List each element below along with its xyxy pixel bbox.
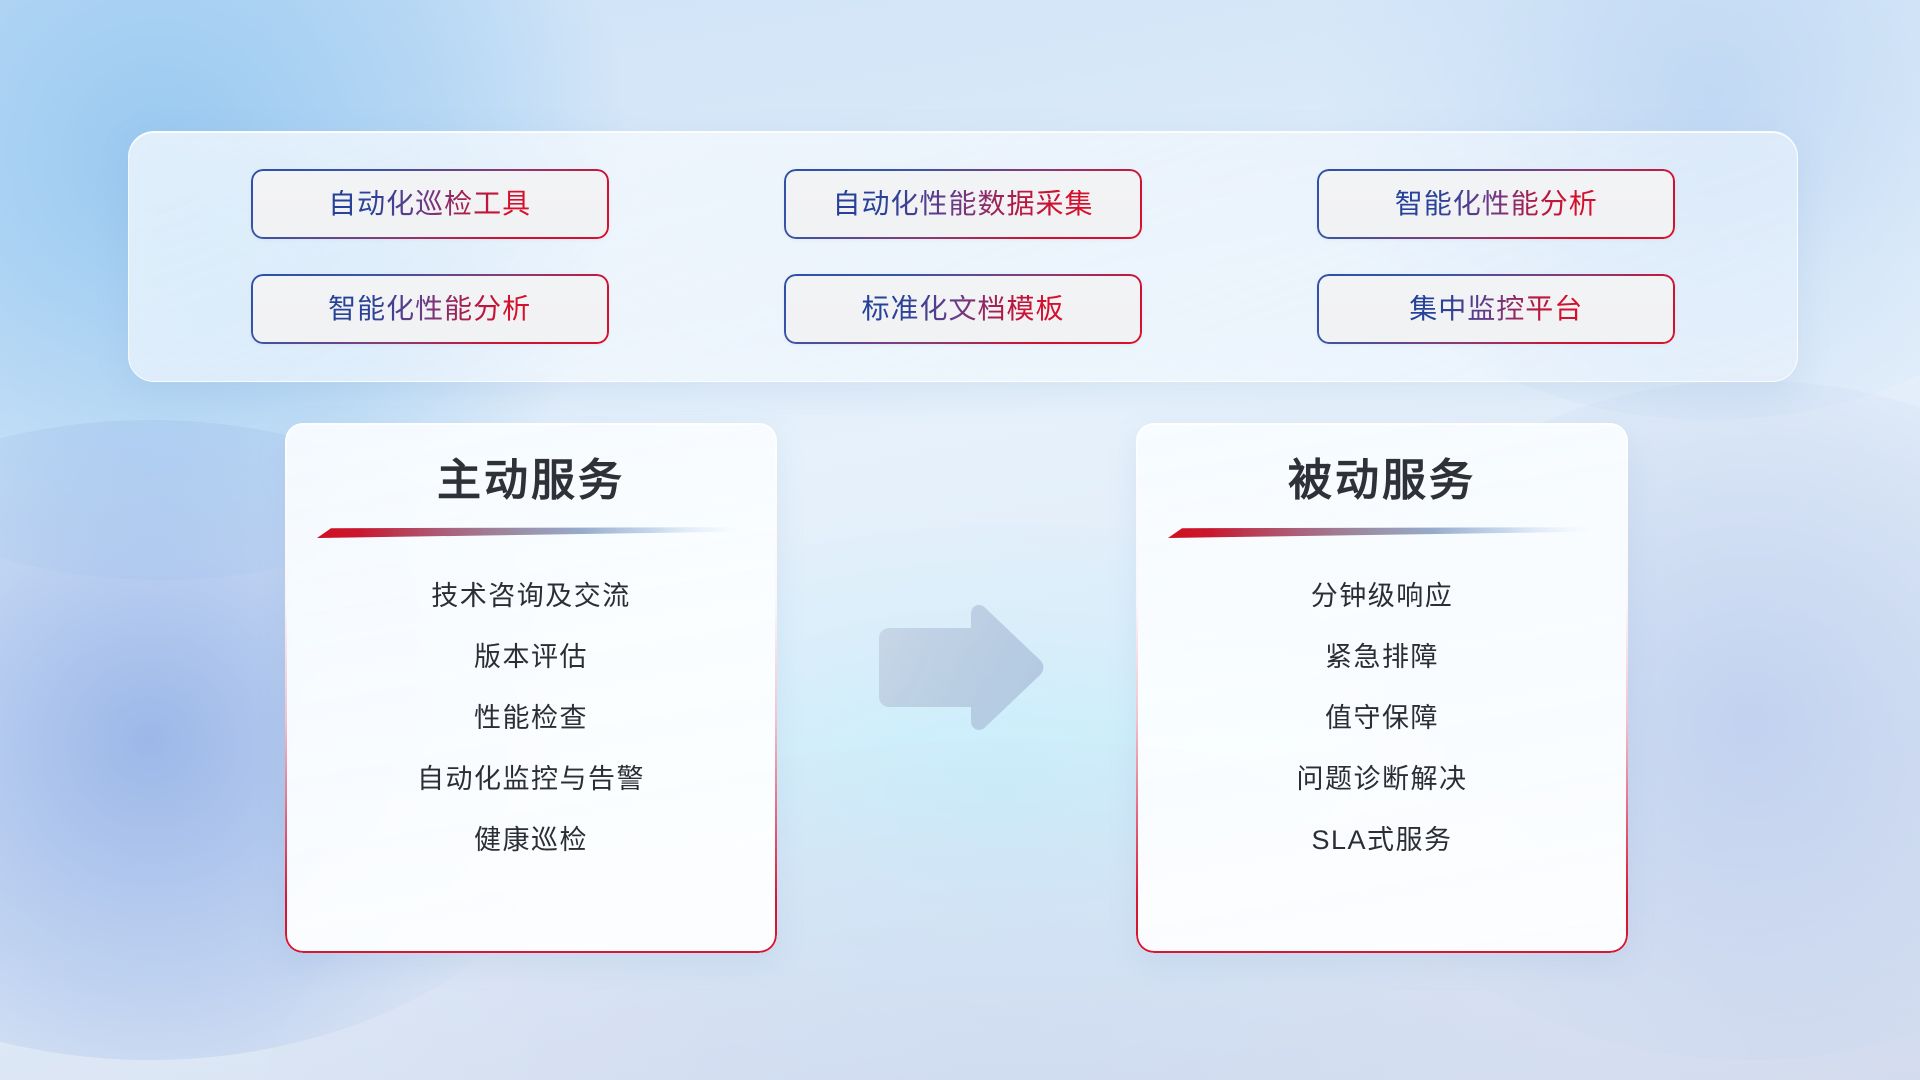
capability-tag-label: 标准化文档模板	[861, 295, 1064, 323]
title-divider	[317, 527, 745, 538]
card-title: 被动服务	[1288, 457, 1476, 505]
capability-tag[interactable]: 智能化性能分析	[251, 274, 609, 344]
list-item: 健康巡检	[474, 810, 588, 871]
list-item: 分钟级响应	[1311, 566, 1454, 627]
capability-tag[interactable]: 自动化巡检工具	[251, 169, 609, 239]
capability-tag-label: 智能化性能分析	[328, 295, 531, 323]
list-item: 版本评估	[474, 627, 588, 688]
capability-tag-label: 智能化性能分析	[1395, 190, 1598, 218]
list-item: 值守保障	[1325, 688, 1439, 749]
capability-tag[interactable]: 自动化性能数据采集	[784, 169, 1142, 239]
list-item: 紧急排障	[1325, 627, 1439, 688]
poster-canvas: 自动化巡检工具 自动化性能数据采集 智能化性能分析 智能化性能分析 标准化文档模…	[0, 0, 1920, 1080]
list-item: SLA式服务	[1311, 810, 1452, 871]
title-divider	[1168, 527, 1596, 538]
list-item: 问题诊断解决	[1297, 749, 1468, 810]
capability-tag[interactable]: 标准化文档模板	[784, 274, 1142, 344]
list-item: 自动化监控与告警	[417, 749, 645, 810]
proactive-service-list: 技术咨询及交流 版本评估 性能检查 自动化监控与告警 健康巡检	[285, 566, 777, 871]
reactive-service-list: 分钟级响应 紧急排障 值守保障 问题诊断解决 SLA式服务	[1136, 566, 1628, 871]
capability-tag-label: 自动化性能数据采集	[832, 190, 1093, 218]
list-item: 技术咨询及交流	[431, 566, 631, 627]
reactive-service-card[interactable]: 被动服务	[1136, 423, 1628, 953]
list-item: 性能检查	[474, 688, 588, 749]
right-arrow-icon	[873, 605, 1048, 730]
proactive-service-card[interactable]: 主动服务	[285, 423, 777, 953]
capability-tag-label: 自动化巡检工具	[328, 190, 531, 218]
capability-tag[interactable]: 集中监控平台	[1317, 274, 1675, 344]
capability-tag[interactable]: 智能化性能分析	[1317, 169, 1675, 239]
card-title: 主动服务	[437, 457, 625, 505]
capability-tag-panel: 自动化巡检工具 自动化性能数据采集 智能化性能分析 智能化性能分析 标准化文档模…	[128, 131, 1798, 382]
capability-tag-label: 集中监控平台	[1409, 295, 1583, 323]
